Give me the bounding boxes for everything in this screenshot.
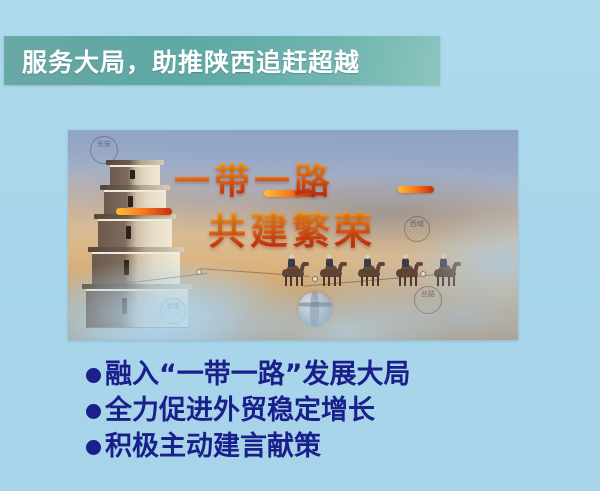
list-item: 融入“一带一路”发展大局	[86, 357, 546, 393]
poster-haze-overlay	[68, 130, 518, 340]
title-banner: 服务大局，助推陕西追赶超越	[4, 36, 440, 85]
slide-canvas: 服务大局，助推陕西追赶超越 一带一路 共建繁荣	[0, 0, 600, 491]
page-title: 服务大局，助推陕西追赶超越	[22, 43, 360, 79]
bullet-text: 全力促进外贸稳定增长	[105, 393, 375, 429]
bullet-text: 积极主动建言献策	[105, 429, 321, 465]
bullet-dot-icon	[86, 404, 101, 419]
bullet-dot-icon	[86, 368, 101, 383]
bullet-dot-icon	[86, 440, 101, 455]
bullet-list: 融入“一带一路”发展大局 全力促进外贸稳定增长 积极主动建言献策	[86, 357, 546, 465]
bullet-text: 融入“一带一路”发展大局	[105, 357, 411, 393]
list-item: 全力促进外贸稳定增长	[86, 393, 546, 429]
list-item: 积极主动建言献策	[86, 429, 546, 465]
belt-and-road-poster-image: 一带一路 共建繁荣	[68, 130, 518, 340]
